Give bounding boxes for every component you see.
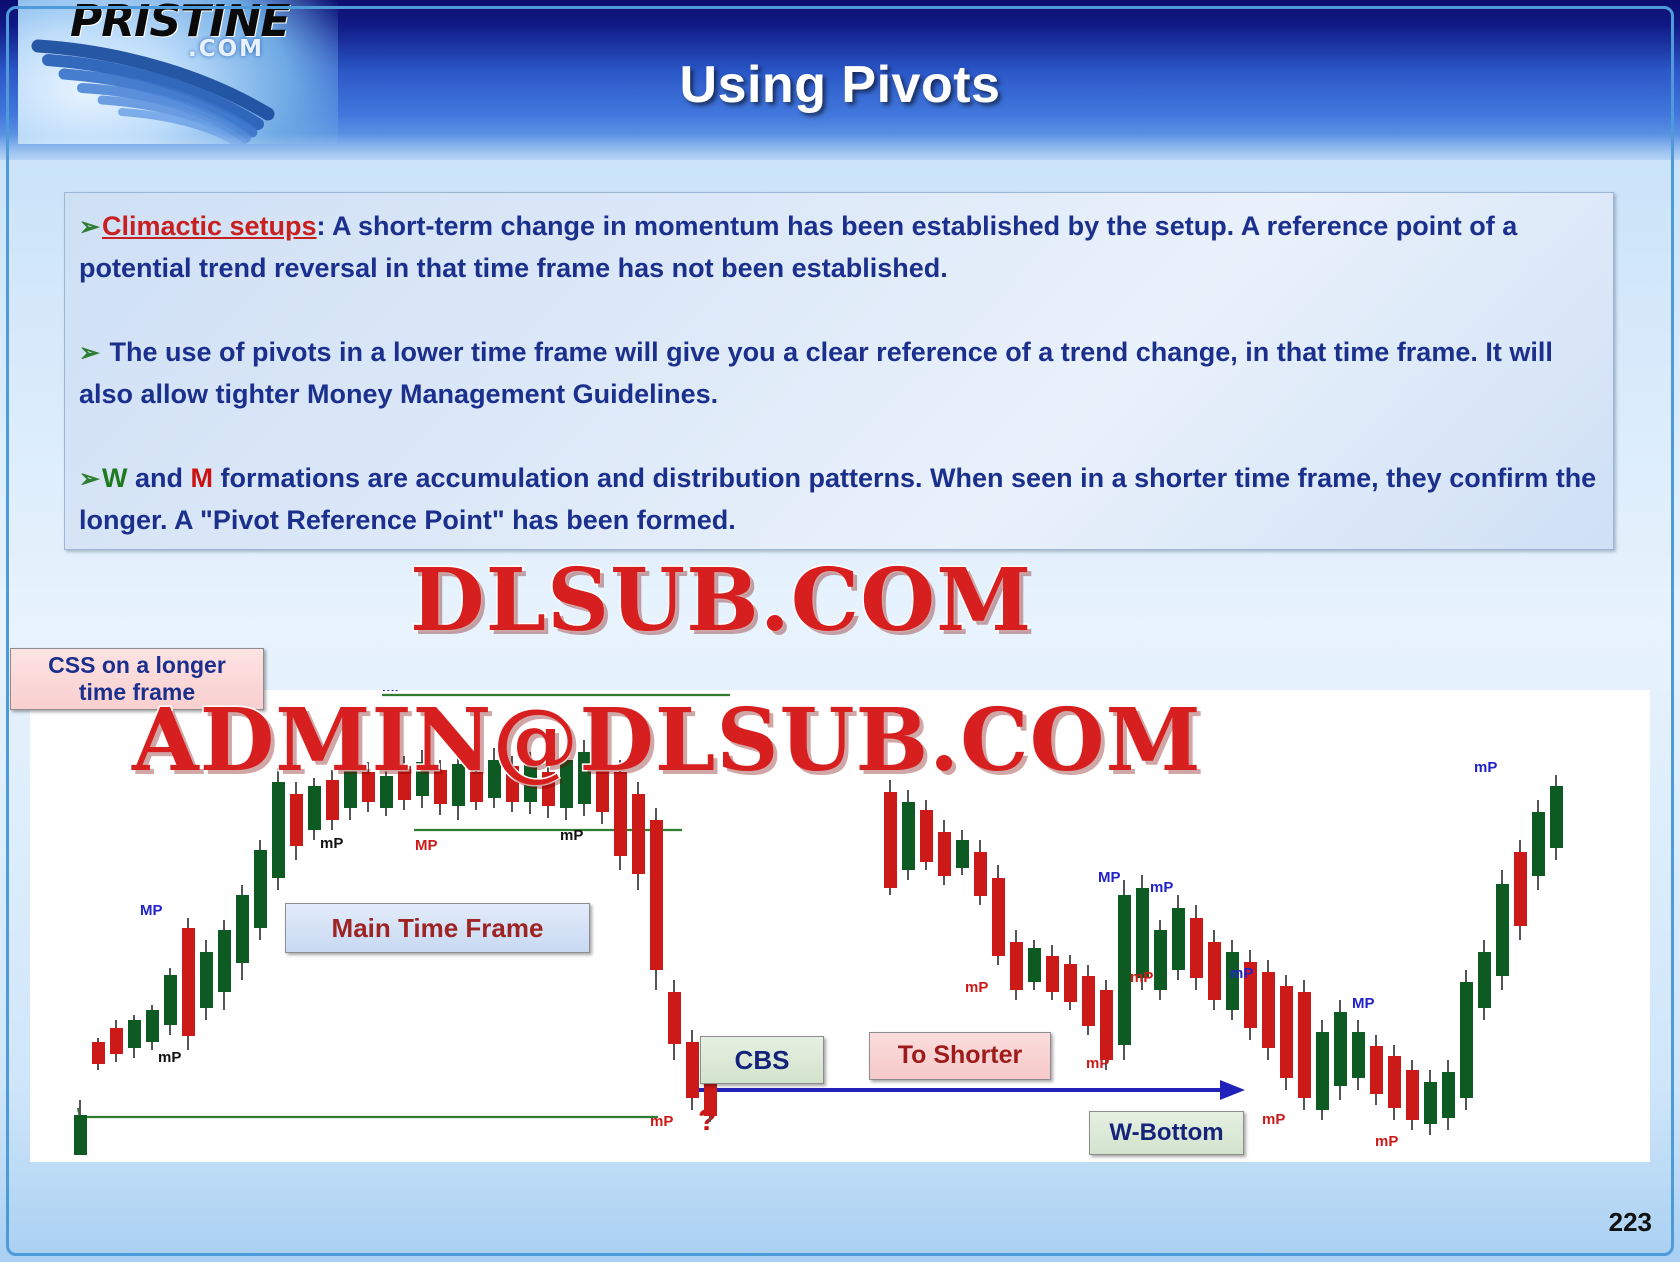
pivot-label-mP: mP [320,835,343,852]
candlestick-chart: ? [30,690,1650,1162]
annotation-to-shorter[interactable]: To Shorter [869,1032,1051,1080]
watermark-dlsub: DLSUB.COM [410,550,1032,651]
bullet-arrow-icon: ➢ [79,339,102,367]
paragraph-climactic-setups: ➢Climactic setups: A short-term change i… [79,205,1599,289]
pivot-label-MP: MP [140,902,163,919]
annotation-cbs[interactable]: CBS [700,1036,824,1084]
pivot-label-MP: MP [1352,995,1375,1012]
annotation-main-time-frame[interactable]: Main Time Frame [285,903,590,953]
pivot-label-MP: MP [382,690,405,695]
bullet-arrow-icon: ➢ [79,465,102,493]
pivot-label-mP: mP [1375,1133,1398,1150]
page-number: 223 [1609,1207,1652,1238]
pivot-label-MP: MP [415,837,438,854]
annotation-css-longer-timeframe[interactable]: CSS on a longer time frame [10,648,264,710]
m-formation-label: M [190,463,213,493]
pivot-label-mP: mP [158,1049,181,1066]
header-sheen [0,134,1680,160]
bullet-arrow-icon: ➢ [79,213,102,241]
paragraph-w-m-formations: ➢W and M formations are accumulation and… [79,457,1599,541]
w-m-formations-body: formations are accumulation and distribu… [79,463,1596,535]
page-title: Using Pivots [0,55,1680,115]
pivot-label-mP: mP [1150,879,1173,896]
w-formation-label: W [102,463,127,493]
slide-header: PRISTINE .COM Using Pivots [0,0,1680,160]
pivot-label-mP: mP [650,1113,673,1130]
slide-canvas: PRISTINE .COM Using Pivots ➢Climactic se… [0,0,1680,1262]
pivot-label-mP: mP [560,827,583,844]
candlestick-plot: ? [30,690,1650,1162]
pivot-label-mP: mP [1230,965,1253,982]
pivot-label-mP: mP [965,979,988,996]
bullet-text-panel: ➢Climactic setups: A short-term change i… [64,192,1614,550]
climactic-setups-lead: Climactic setups [102,211,317,241]
pivot-label-mP: mP [1262,1111,1285,1128]
pivot-label-mP: mP [1474,759,1497,776]
pivot-label-mP: mP [1086,1055,1109,1072]
annotation-w-bottom[interactable]: W-Bottom [1089,1111,1244,1155]
pivots-lower-timeframe-body: The use of pivots in a lower time frame … [79,337,1553,409]
w-m-conjunction: and [127,463,190,493]
pivot-label-MP: MP [1098,869,1121,886]
pivot-label-mP: mP [1130,969,1153,986]
paragraph-pivots-lower-timeframe: ➢ The use of pivots in a lower time fram… [79,331,1599,415]
